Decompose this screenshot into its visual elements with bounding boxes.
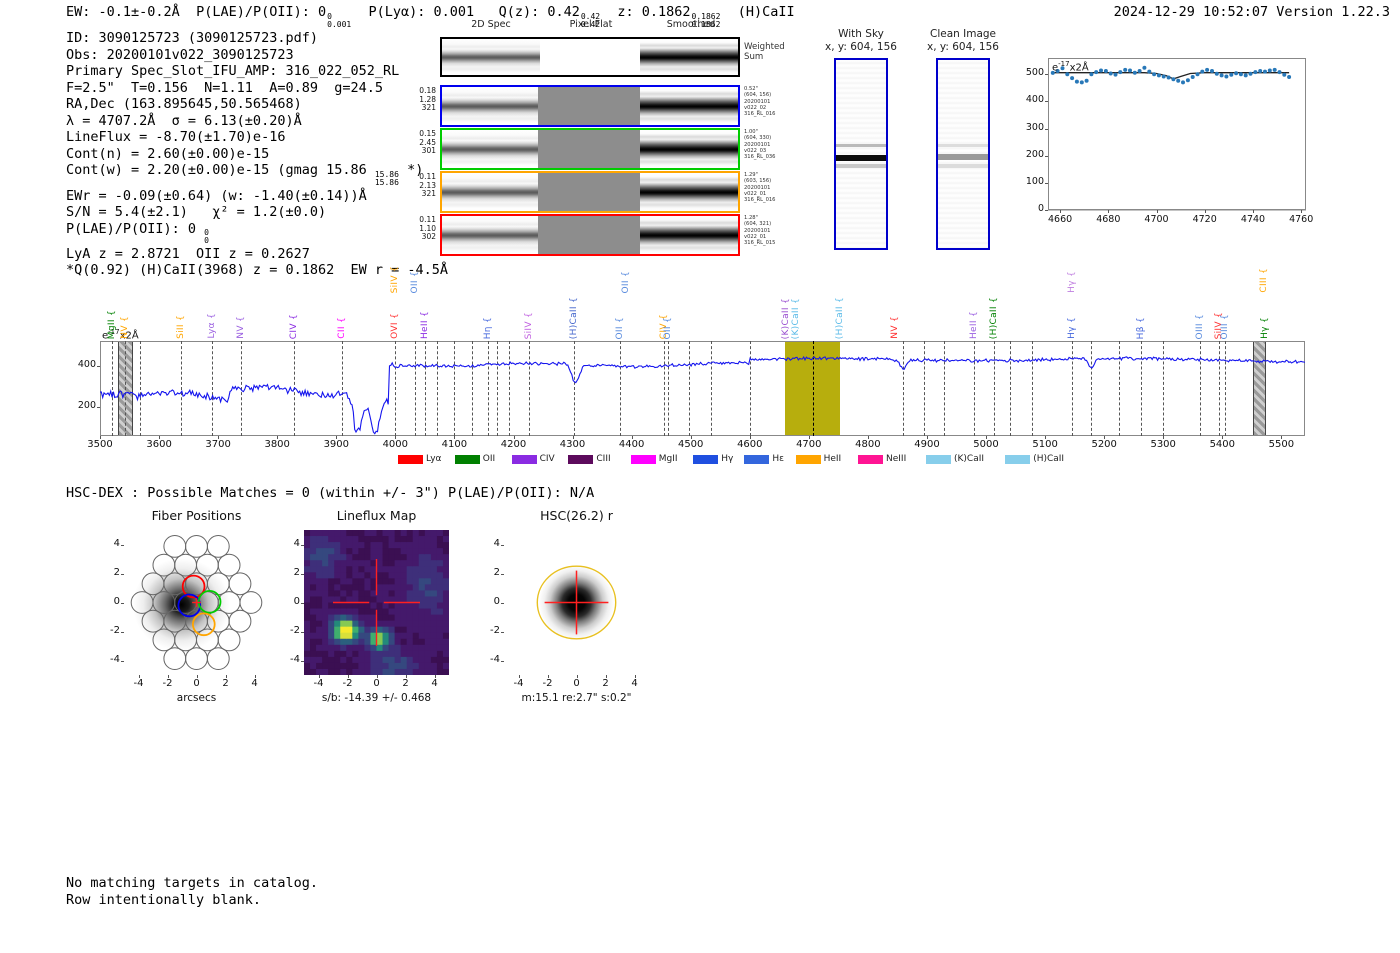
hsc-panel-xtick-mark: [577, 675, 578, 678]
detection-info-block: ID: 3090125723 (3090125723.pdf) Obs: 202…: [66, 30, 448, 279]
footer-line-1: No matching targets in catalog.: [66, 875, 318, 891]
hsc-panel-xtick: 0: [182, 678, 212, 689]
cutout-trace-band: [836, 164, 886, 168]
hsc-panel-xtick-mark: [606, 675, 607, 678]
emission-line-label: CIII {: [1259, 268, 1269, 293]
cutout-trace-band: [938, 164, 988, 168]
spec2d-smoothed-image: [640, 130, 738, 168]
legend-swatch: [744, 455, 769, 464]
hsc-panel-row: Fiber Positionsarcsecs-4-2024-4-2024NELi…: [60, 508, 620, 708]
emission-line-label: Hη {: [483, 317, 493, 339]
line-zoom-ytick-mark: [1045, 101, 1048, 102]
hsc-panel-xtick-mark: [548, 675, 549, 678]
full-spectrum-xtick-mark: [159, 436, 160, 439]
footer-line-2: Row intentionally blank.: [66, 892, 261, 908]
emission-line-label: OII {: [621, 271, 631, 293]
full-spectrum-xtick-mark: [1222, 436, 1223, 439]
spec2d-pixelflat-image: [540, 39, 640, 75]
header-plae-sub: 0.001: [327, 21, 351, 29]
full-spectrum-xtick: 5100: [1023, 439, 1067, 450]
full-spectrum-xtick-mark: [1281, 436, 1282, 439]
legend-swatch: [398, 455, 423, 464]
legend-swatch: [568, 455, 593, 464]
hsc-panel-canvas: [124, 530, 269, 675]
hsc-panel-xtick: -4: [124, 678, 154, 689]
line-zoom-ytick: 0: [1014, 203, 1044, 214]
full-spectrum-xtick: 5000: [964, 439, 1008, 450]
legend-label: CIII: [596, 454, 610, 464]
full-spectrum-xtick-mark: [1045, 436, 1046, 439]
cutout-subtitle-text: x, y: 604, 156: [918, 41, 1008, 54]
cutout-trace-band: [836, 144, 886, 147]
hsc-panel-xtick: 0: [562, 678, 592, 689]
line-zoom-xtick: 4720: [1183, 214, 1227, 225]
line-zoom-plot: e-17x2Å010020030040050046604680470047204…: [1048, 58, 1306, 210]
hsc-panel-xtick-mark: [319, 675, 320, 678]
cutout-title: With Skyx, y: 604, 156: [816, 28, 906, 53]
line-zoom-xtick: 4660: [1038, 214, 1082, 225]
hsc-panel-title: Lineflux Map: [274, 508, 479, 523]
line-zoom-ytick: 400: [1014, 94, 1044, 105]
hsc-panel-xtick: 4: [620, 678, 650, 689]
hsc-panel-xtick-mark: [406, 675, 407, 678]
legend-label: HeII: [824, 454, 842, 464]
spec2d-pixelflat-image: [538, 130, 640, 168]
full-spectrum-xtick-mark: [1104, 436, 1105, 439]
spec2d-fiber-row: [440, 128, 740, 170]
line-zoom-ytick-mark: [1045, 74, 1048, 75]
cutout-trace-band: [938, 154, 988, 160]
hsc-panel-xtick: 2: [391, 678, 421, 689]
legend-swatch: [858, 455, 883, 464]
emission-line-label: OII {: [615, 317, 625, 339]
line-zoom-ytick: 300: [1014, 122, 1044, 133]
full-spectrum-ytick-mark: [97, 407, 100, 408]
info-cont-w-sub: 15.86: [375, 179, 399, 187]
line-zoom-ytick: 200: [1014, 149, 1044, 160]
header-qz: Q(z): 0.42: [499, 4, 580, 20]
spec2d-smoothed-image: [640, 216, 738, 254]
hsc-panel-xtick-mark: [435, 675, 436, 678]
hsc-panel-ytick: 4: [278, 538, 300, 549]
full-spectrum-xtick: 3800: [255, 439, 299, 450]
emission-line-label: NV {: [236, 316, 246, 339]
info-lambda-sigma: λ = 4707.2Å σ = 6.13(±0.20)Å: [66, 113, 302, 129]
cutout-subtitle-text: x, y: 604, 156: [816, 41, 906, 54]
spec2d-row-meta-line: (604, 330): [744, 135, 776, 141]
hsc-panel-ytick: -2: [278, 625, 300, 636]
legend-swatch: [631, 455, 656, 464]
legend-swatch: [796, 455, 821, 464]
header-z-line: (H)CaII: [738, 4, 795, 20]
full-spectrum-xtick: 4500: [669, 439, 713, 450]
spec2d-row-meta: 1.29"(603, 156)20200101v022_01316_RL_016: [744, 172, 776, 203]
full-spectrum-ytick-mark: [97, 366, 100, 367]
hsc-panel-xtick-mark: [226, 675, 227, 678]
info-redshifts: LyA z = 2.8721 OII z = 0.2627: [66, 246, 310, 262]
info-plae-sub: 0: [204, 237, 209, 245]
legend-label: Hε: [772, 454, 784, 464]
hsc-panel-xtick: -2: [153, 678, 183, 689]
full-spectrum-xtick: 4800: [846, 439, 890, 450]
full-spectrum-xtick-mark: [218, 436, 219, 439]
emission-line-label: CIV {: [289, 314, 299, 339]
emission-line-label: Lyα {: [207, 313, 217, 339]
full-spectrum-xtick: 5500: [1259, 439, 1303, 450]
full-spectrum-canvas: [100, 341, 1305, 436]
line-zoom-xtick: 4760: [1279, 214, 1323, 225]
emission-line-label: (K)CaII {: [791, 298, 801, 339]
spec2d-row-value: 302: [402, 233, 436, 242]
cutout-trace-band: [938, 144, 988, 147]
legend-swatch: [693, 455, 718, 464]
hsc-panel-canvas: [304, 530, 449, 675]
legend-swatch: [926, 455, 951, 464]
legend-label: (K)CaII: [954, 454, 984, 464]
full-spectrum-plot: 2004003500360037003800390040004100420043…: [100, 341, 1305, 436]
emission-line-label: Hβ {: [1136, 317, 1146, 339]
full-spectrum-xtick-mark: [277, 436, 278, 439]
full-spectrum-xtick-mark: [1163, 436, 1164, 439]
hsc-panel-xtick: -2: [333, 678, 363, 689]
full-spectrum-xtick-mark: [750, 436, 751, 439]
spec2d-column-title: Smoothed: [624, 19, 758, 30]
full-spectrum-xtick: 4700: [787, 439, 831, 450]
emission-line-label: NV {: [120, 316, 130, 339]
spec2d-row-value: 321: [402, 190, 436, 199]
spec2d-weighted-sum-label: Weighted Sum: [744, 43, 785, 62]
full-spectrum-xtick: 3900: [314, 439, 358, 450]
hsc-panel-title: HSC(26.2) r: [474, 508, 679, 523]
full-spectrum-xtick: 4300: [551, 439, 595, 450]
cutout-image: [936, 58, 990, 250]
legend-label: NeIII: [886, 454, 906, 464]
info-ewr: EWr = -0.09(±0.64) (w: -1.40(±0.14))Å: [66, 188, 367, 204]
spec2d-weighted-sum-row: [440, 37, 740, 77]
full-spectrum-xtick-mark: [336, 436, 337, 439]
spec2d-2dspec-image: [442, 216, 538, 254]
info-cont-w-pre: Cont(w) = 2.20(±0.00)e-15 (gmag 15.86: [66, 162, 375, 178]
cutout-title-text: With Sky: [816, 28, 906, 41]
info-sn-chi2: S/N = 5.4(±2.1) χ² = 1.2(±0.0): [66, 204, 326, 220]
emission-line-label: NV {: [890, 316, 900, 339]
info-obs: Obs: 20200101v022_3090125723: [66, 47, 294, 63]
emission-line-label: (K)CaII {: [781, 298, 791, 339]
emission-line-label: SiIV {: [390, 266, 400, 293]
line-zoom-xtick: 4740: [1231, 214, 1275, 225]
line-zoom-ytick-mark: [1045, 129, 1048, 130]
emission-line-label: HeII {: [420, 311, 430, 339]
hsc-panel-xtick: 4: [240, 678, 270, 689]
spec2d-fiber-row: [440, 85, 740, 127]
full-spectrum-xtick: 3500: [78, 439, 122, 450]
emission-line-label: OIII {: [1195, 314, 1205, 339]
full-spectrum-xtick: 5200: [1082, 439, 1126, 450]
hsc-panel-xtick-mark: [255, 675, 256, 678]
spec2d-row-meta: 0.52"(604, 156)20200101v022_02316_RL_016: [744, 86, 776, 117]
legend-label: Lyα: [426, 454, 441, 464]
hsc-panel-canvas: [504, 530, 649, 675]
info-primary-slot: Primary Spec_Slot_IFU_AMP: 316_022_052_R…: [66, 63, 399, 79]
hsc-panel-ytick: -2: [478, 625, 500, 636]
line-zoom-xtick-mark: [1205, 210, 1206, 213]
info-plae-pre: P(LAE)/P(OII): 0: [66, 221, 204, 237]
info-params: F=2.5" T=0.156 N=1.11 A=0.89 g=24.5: [66, 80, 383, 96]
full-spectrum-xtick: 4600: [728, 439, 772, 450]
line-zoom-ytick-mark: [1045, 210, 1048, 211]
hsc-dex-header: HSC-DEX : Possible Matches = 0 (within +…: [66, 485, 594, 501]
legend-label: (H)CaII: [1033, 454, 1064, 464]
hsc-panel-ytick: -4: [278, 654, 300, 665]
flux-units-annotation: e-17x2Å: [1052, 60, 1089, 73]
spec2d-smoothed-image: [640, 39, 738, 75]
cutout-title: Clean Imagex, y: 604, 156: [918, 28, 1008, 53]
full-spectrum-ytick: 400: [66, 359, 96, 370]
full-spectrum-xtick: 5300: [1141, 439, 1185, 450]
hsc-panel-subtitle: m:15.1 re:2.7" s:0.2": [464, 692, 689, 704]
hsc-panel-xtick: 2: [211, 678, 241, 689]
legend-swatch: [1005, 455, 1030, 464]
hsc-panel-xtick: 0: [362, 678, 392, 689]
info-cont-n: Cont(n) = 2.60(±0.00)e-15: [66, 146, 269, 162]
cutout-image: [834, 58, 888, 250]
cutout-image-pixels: [836, 60, 886, 248]
spec2d-pixelflat-image: [538, 173, 640, 211]
spec2d-row-meta-line: 316_RL_036: [744, 154, 776, 160]
hsc-panel-ytick: 2: [278, 567, 300, 578]
line-zoom-xtick-mark: [1060, 210, 1061, 213]
spec2d-row-meta: 1.00"(604, 330)20200101v022_03316_RL_036: [744, 129, 776, 160]
full-spectrum-xtick-mark: [809, 436, 810, 439]
full-spectrum-xtick: 3700: [196, 439, 240, 450]
spec2d-smoothed-image: [640, 173, 738, 211]
hsc-panel-xtick-mark: [377, 675, 378, 678]
line-zoom-xtick: 4700: [1135, 214, 1179, 225]
full-spectrum-xtick-mark: [454, 436, 455, 439]
emission-line-label: Hγ {: [1067, 271, 1077, 293]
line-zoom-xtick-mark: [1157, 210, 1158, 213]
info-lineflux: LineFlux = -8.70(±1.70)e-16: [66, 129, 285, 145]
full-spectrum-xtick-mark: [632, 436, 633, 439]
full-spectrum-xtick-mark: [868, 436, 869, 439]
line-zoom-ytick: 100: [1014, 176, 1044, 187]
full-spectrum-xtick-mark: [573, 436, 574, 439]
emission-line-label: HeII {: [969, 311, 979, 339]
header-plae-value: 0: [318, 4, 326, 20]
hsc-panel-xtick-mark: [519, 675, 520, 678]
line-zoom-xtick-mark: [1253, 210, 1254, 213]
spec2d-2dspec-image: [442, 39, 540, 75]
spec2d-row-meta-line: (603, 156): [744, 178, 776, 184]
hsc-panel-ytick: -2: [98, 625, 120, 636]
hsc-panel-xtick: 2: [591, 678, 621, 689]
hsc-panel-ytick: 0: [278, 596, 300, 607]
spec2d-pixelflat-image: [538, 87, 640, 125]
full-spectrum-xtick-mark: [100, 436, 101, 439]
header-z: z: 0.1862: [617, 4, 690, 20]
full-spectrum-ytick: 200: [66, 400, 96, 411]
footer-note: No matching targets in catalog. Row inte…: [66, 875, 318, 909]
line-zoom-xtick-mark: [1301, 210, 1302, 213]
line-zoom-xtick: 4680: [1086, 214, 1130, 225]
full-spectrum-xtick: 4000: [373, 439, 417, 450]
hsc-panel-ytick: -4: [478, 654, 500, 665]
cutout-image-pixels: [938, 60, 988, 248]
full-spectrum-xtick: 4400: [610, 439, 654, 450]
legend-swatch: [512, 455, 537, 464]
emission-line-label: OII {: [410, 271, 420, 293]
emission-line-label: (H)CaII {: [835, 297, 845, 339]
spec2d-row-meta-line: 316_RL_016: [744, 197, 776, 203]
line-zoom-ytick-mark: [1045, 183, 1048, 184]
hsc-panel-ytick: 4: [98, 538, 120, 549]
emission-line-label: Hγ {: [1260, 317, 1270, 339]
spec2d-2dspec-image: [442, 130, 538, 168]
hsc-panel-xtick: 4: [420, 678, 450, 689]
full-spectrum-xtick-mark: [986, 436, 987, 439]
hsc-panel-xtick-mark: [348, 675, 349, 678]
full-spectrum-xtick-mark: [691, 436, 692, 439]
hsc-panel-xtick-mark: [197, 675, 198, 678]
hsc-panel-ytick: 0: [478, 596, 500, 607]
legend-label: OII: [483, 454, 495, 464]
full-spectrum-xtick-mark: [927, 436, 928, 439]
spectrum-legend: LyαOIICIVCIIIMgIIHγHεHeIINeIII(K)CaII(H)…: [398, 454, 1018, 466]
emission-line-label: Hγ {: [1067, 317, 1077, 339]
legend-label: Hγ: [721, 454, 733, 464]
legend-label: CIV: [540, 454, 555, 464]
spec2d-2dspec-image: [442, 173, 538, 211]
spec2d-row-meta-line: 316_RL_015: [744, 240, 776, 246]
line-zoom-ytick-mark: [1045, 156, 1048, 157]
spec2d-pixelflat-image: [538, 216, 640, 254]
line-zoom-xtick-mark: [1108, 210, 1109, 213]
hsc-panel-ytick: 2: [478, 567, 500, 578]
hsc-panel-xtick-mark: [139, 675, 140, 678]
emission-line-label: OII {: [663, 317, 673, 339]
hsc-panel-xtick: -2: [533, 678, 563, 689]
spec2d-row-values: 0.112.13321: [402, 173, 436, 199]
spec2d-row-meta: 1.28"(604, 321)20200101v022_01316_RL_015: [744, 215, 776, 246]
legend-swatch: [455, 455, 480, 464]
full-spectrum-xtick-mark: [514, 436, 515, 439]
full-spectrum-xtick: 4900: [905, 439, 949, 450]
hsc-panel-xtick: -4: [304, 678, 334, 689]
hsc-panel-subtitle: s/b: -14.39 +/- 0.468: [264, 692, 489, 704]
spec2d-smoothed-image: [640, 87, 738, 125]
spec2d-row-meta-line: (604, 156): [744, 92, 776, 98]
emission-line-label: (H)CaII {: [569, 297, 579, 339]
spec2d-fiber-row: [440, 214, 740, 256]
emission-line-label: OIII {: [1220, 314, 1230, 339]
emission-line-label: (H)CaII {: [989, 297, 999, 339]
spec2d-row-value: 321: [402, 104, 436, 113]
spec2d-montage: 2D SpecPixel FlatSmoothedWeighted Sum0.1…: [440, 33, 760, 255]
cutout-trace-band: [836, 155, 886, 161]
spec2d-row-values: 0.152.45301: [402, 130, 436, 156]
info-radec: RA,Dec (163.895645,50.565468): [66, 96, 302, 112]
spec2d-row-meta-line: (604, 321): [744, 221, 776, 227]
spec2d-row-values: 0.111.10302: [402, 216, 436, 242]
timestamp-version: 2024-12-29 10:52:07 Version 1.22.3: [1114, 4, 1390, 20]
emission-line-label: OVI {: [390, 313, 400, 339]
hsc-panel-title: Fiber Positions: [94, 508, 299, 523]
header-plae-label: P(LAE)/P(OII):: [196, 4, 310, 20]
full-spectrum-xtick: 4200: [492, 439, 536, 450]
line-zoom-ytick: 500: [1014, 67, 1044, 78]
spec2d-row-values: 0.181.28321: [402, 87, 436, 113]
hsc-panel-ytick: -4: [98, 654, 120, 665]
hsc-panel-xtick-mark: [168, 675, 169, 678]
header-ew: EW: -0.1±-0.2Å: [66, 4, 180, 20]
cutout-panels: With Skyx, y: 604, 156Clean Imagex, y: 6…: [826, 28, 1006, 253]
emission-line-label: CII {: [337, 317, 347, 339]
hsc-panel-xtick: -4: [504, 678, 534, 689]
spec2d-row-meta-line: 316_RL_016: [744, 111, 776, 117]
hsc-panel-ytick: 2: [98, 567, 120, 578]
cutout-title-text: Clean Image: [918, 28, 1008, 41]
spec2d-fiber-row: [440, 171, 740, 213]
emission-line-label: SiII {: [176, 315, 186, 339]
hsc-panel-ytick: 4: [478, 538, 500, 549]
full-spectrum-xtick-mark: [395, 436, 396, 439]
legend-label: MgII: [659, 454, 678, 464]
spec2d-row-value: 301: [402, 147, 436, 156]
full-spectrum-xtick: 3600: [137, 439, 181, 450]
line-zoom-canvas: [1048, 58, 1306, 210]
hsc-panel-ytick: 0: [98, 596, 120, 607]
emission-line-label: SiIV {: [524, 312, 534, 339]
spec2d-2dspec-image: [442, 87, 538, 125]
header-plya: P(Lyα): 0.001: [369, 4, 475, 20]
full-spectrum-xtick: 4100: [432, 439, 476, 450]
info-id: ID: 3090125723 (3090125723.pdf): [66, 30, 318, 46]
hsc-panel-xtick-mark: [635, 675, 636, 678]
emission-line-label: MgII {: [107, 310, 117, 339]
full-spectrum-xtick: 5400: [1200, 439, 1244, 450]
